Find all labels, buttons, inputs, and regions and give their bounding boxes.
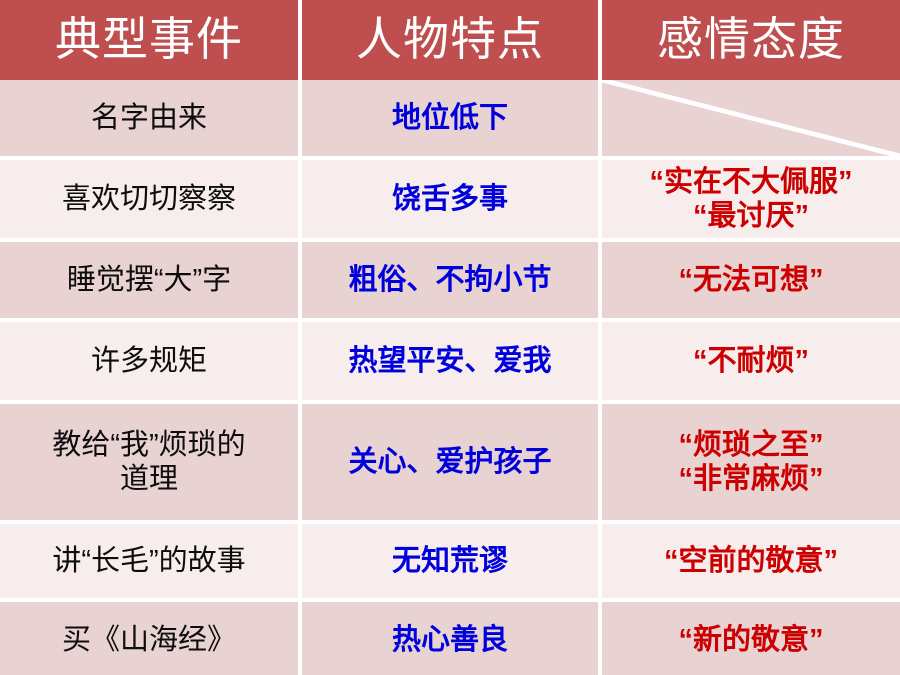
cell-feeling: “实在不大佩服” “最讨厌” bbox=[602, 160, 900, 242]
event-line: 道理 bbox=[120, 462, 178, 496]
feeling-line: “非常麻烦” bbox=[678, 462, 823, 496]
feeling-line: “最讨厌” bbox=[693, 199, 809, 233]
cell-feeling: “不耐烦” bbox=[602, 322, 900, 404]
cell-trait: 无知荒谬 bbox=[302, 524, 602, 602]
cell-event: 讲“长毛”的故事 bbox=[0, 524, 302, 602]
cell-trait: 热心善良 bbox=[302, 602, 602, 675]
cell-event: 名字由来 bbox=[0, 80, 302, 160]
table-row: 讲“长毛”的故事 无知荒谬 “空前的敬意” bbox=[0, 524, 900, 602]
table-row: 睡觉摆“大”字 粗俗、不拘小节 “无法可想” bbox=[0, 242, 900, 322]
feeling-line: “烦琐之至” bbox=[678, 428, 823, 462]
cell-feeling-empty bbox=[602, 80, 900, 160]
table-header-row: 典型事件 人物特点 感情态度 bbox=[0, 0, 900, 80]
column-header-event: 典型事件 bbox=[0, 0, 302, 80]
cell-trait: 关心、爱护孩子 bbox=[302, 404, 602, 524]
cell-trait: 粗俗、不拘小节 bbox=[302, 242, 602, 322]
cell-trait: 饶舌多事 bbox=[302, 160, 602, 242]
table-row: 名字由来 地位低下 bbox=[0, 80, 900, 160]
feeling-line: “实在不大佩服” bbox=[649, 165, 852, 199]
column-header-trait: 人物特点 bbox=[302, 0, 602, 80]
event-line: 教给“我”烦琐的 bbox=[52, 428, 245, 462]
cell-event: 睡觉摆“大”字 bbox=[0, 242, 302, 322]
cell-feeling: “无法可想” bbox=[602, 242, 900, 322]
comparison-table: 典型事件 人物特点 感情态度 名字由来 地位低下 喜欢切切察察 饶舌多事 “实在… bbox=[0, 0, 900, 675]
cell-event: 许多规矩 bbox=[0, 322, 302, 404]
cell-trait: 热望平安、爱我 bbox=[302, 322, 602, 404]
cell-event: 教给“我”烦琐的 道理 bbox=[0, 404, 302, 524]
cell-trait: 地位低下 bbox=[302, 80, 602, 160]
cell-feeling: “新的敬意” bbox=[602, 602, 900, 675]
table-row: 喜欢切切察察 饶舌多事 “实在不大佩服” “最讨厌” bbox=[0, 160, 900, 242]
table-row: 教给“我”烦琐的 道理 关心、爱护孩子 “烦琐之至” “非常麻烦” bbox=[0, 404, 900, 524]
cell-event: 买《山海经》 bbox=[0, 602, 302, 675]
cell-feeling: “烦琐之至” “非常麻烦” bbox=[602, 404, 900, 524]
diagonal-strike-icon bbox=[602, 80, 900, 156]
table-row: 许多规矩 热望平安、爱我 “不耐烦” bbox=[0, 322, 900, 404]
table-row: 买《山海经》 热心善良 “新的敬意” bbox=[0, 602, 900, 675]
cell-event: 喜欢切切察察 bbox=[0, 160, 302, 242]
column-header-feeling: 感情态度 bbox=[602, 0, 900, 80]
cell-feeling: “空前的敬意” bbox=[602, 524, 900, 602]
